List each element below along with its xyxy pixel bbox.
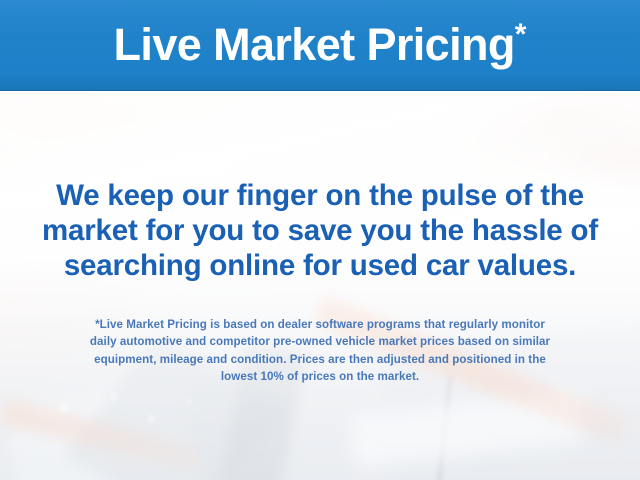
fine-print-disclaimer: *Live Market Pricing is based on dealer … [26, 316, 614, 385]
promo-content: We keep our finger on the pulse of the m… [0, 90, 640, 480]
fine-print-line-1: *Live Market Pricing is based on dealer … [26, 316, 614, 333]
banner-title-text: Live Market Pricing [114, 19, 515, 70]
headline-line-1: We keep our finger on the pulse of the [24, 178, 616, 213]
header-banner: Live Market Pricing* [0, 0, 640, 90]
headline: We keep our finger on the pulse of the m… [24, 178, 616, 283]
headline-line-3: searching online for used car values. [24, 248, 616, 283]
fine-print-line-3: equipment, mileage and condition. Prices… [26, 351, 614, 368]
fine-print-line-2: daily automotive and competitor pre-owne… [26, 333, 614, 350]
live-market-pricing-promo-card: Live Market Pricing* We keep our finger … [0, 0, 640, 480]
banner-footnote-marker: * [515, 18, 527, 51]
banner-title: Live Market Pricing* [114, 20, 527, 70]
fine-print-line-4: lowest 10% of prices on the market. [26, 368, 614, 385]
headline-line-2: market for you to save you the hassle of [24, 213, 616, 248]
